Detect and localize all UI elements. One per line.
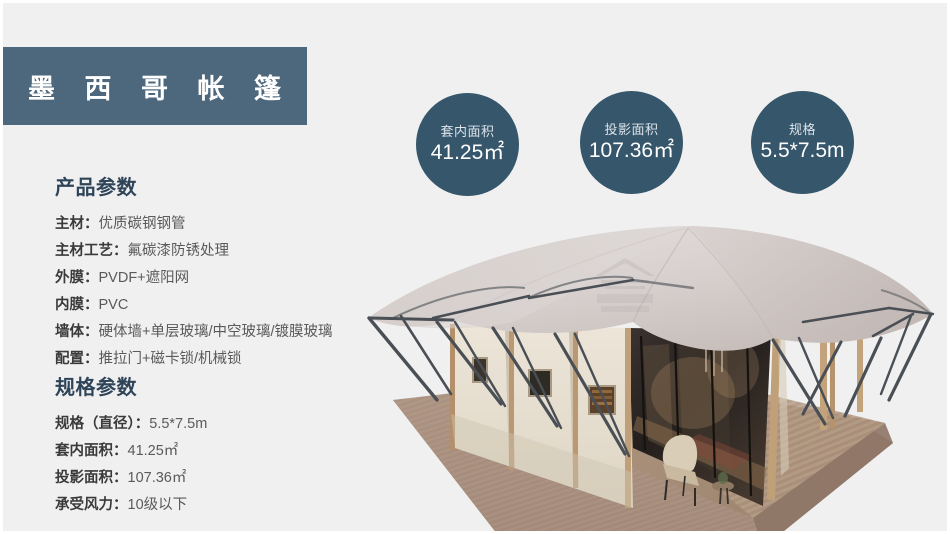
spec-label: 主材工艺：	[55, 243, 128, 259]
specification-parameters-section: 规格参数 规格（直径）：5.5*7.5m 套内面积：41.25㎡ 投影面积：10…	[55, 371, 207, 519]
spec-label: 主材：	[55, 216, 99, 232]
spec-value: 推拉门+磁卡锁/机械锁	[99, 351, 242, 367]
spec-value: 优质碳钢钢管	[99, 216, 186, 232]
spec-value: 氟碳漆防锈处理	[128, 243, 230, 259]
spec-label: 配置：	[55, 351, 99, 367]
stat-badge-label: 规格	[789, 122, 816, 138]
spec-row: 墙体：硬体墙+单层玻璃/中空玻璃/镀膜玻璃	[55, 319, 333, 346]
page-title-banner: 墨 西 哥 帐 篷	[2, 47, 307, 125]
spec-value: 41.25㎡	[128, 443, 179, 459]
spec-row: 套内面积：41.25㎡	[55, 438, 207, 465]
spec-value: PVDF+遮阳网	[99, 270, 190, 286]
spec-value: 107.36㎡	[128, 470, 187, 486]
tent-render-image	[333, 218, 950, 534]
stat-badge-dimensions: 规格 5.5*7.5m	[751, 91, 854, 194]
spec-value: 5.5*7.5m	[149, 416, 207, 432]
stat-badge-value: 107.36㎡	[589, 139, 674, 163]
section-heading-spec: 规格参数	[55, 371, 207, 400]
spec-label: 内膜：	[55, 297, 99, 313]
product-parameters-section: 产品参数 主材：优质碳钢钢管 主材工艺：氟碳漆防锈处理 外膜：PVDF+遮阳网 …	[55, 171, 333, 373]
spec-label: 承受风力：	[55, 497, 128, 513]
spec-row: 内膜：PVC	[55, 292, 333, 319]
spec-value: 硬体墙+单层玻璃/中空玻璃/镀膜玻璃	[99, 324, 333, 340]
stat-badge-label: 投影面积	[604, 122, 658, 138]
spec-row: 规格（直径）：5.5*7.5m	[55, 411, 207, 438]
spec-label: 套内面积：	[55, 443, 128, 459]
spec-label: 规格（直径）：	[55, 416, 149, 432]
spec-row: 主材工艺：氟碳漆防锈处理	[55, 238, 333, 265]
spec-label: 投影面积：	[55, 470, 128, 486]
spec-label: 外膜：	[55, 270, 99, 286]
spec-value: PVC	[99, 297, 129, 313]
spec-label: 墙体：	[55, 324, 99, 340]
stat-badge-interior-area: 套内面积 41.25㎡	[416, 93, 519, 196]
spec-row: 主材：优质碳钢钢管	[55, 211, 333, 238]
stat-badge-projected-area: 投影面积 107.36㎡	[580, 91, 683, 194]
section-heading-product: 产品参数	[55, 171, 333, 200]
spec-row: 投影面积：107.36㎡	[55, 465, 207, 492]
slide-canvas: 墨 西 哥 帐 篷 套内面积 41.25㎡ 投影面积 107.36㎡ 规格 5.…	[0, 0, 950, 534]
stat-badge-value: 5.5*7.5m	[760, 139, 844, 163]
spec-row: 承受风力：10级以下	[55, 492, 207, 519]
stat-badge-value: 41.25㎡	[431, 141, 505, 165]
page-title: 墨 西 哥 帐 篷	[17, 67, 292, 106]
spec-row: 配置：推拉门+磁卡锁/机械锁	[55, 346, 333, 373]
spec-value: 10级以下	[128, 497, 188, 513]
stat-badge-label: 套内面积	[440, 124, 494, 140]
spec-row: 外膜：PVDF+遮阳网	[55, 265, 333, 292]
